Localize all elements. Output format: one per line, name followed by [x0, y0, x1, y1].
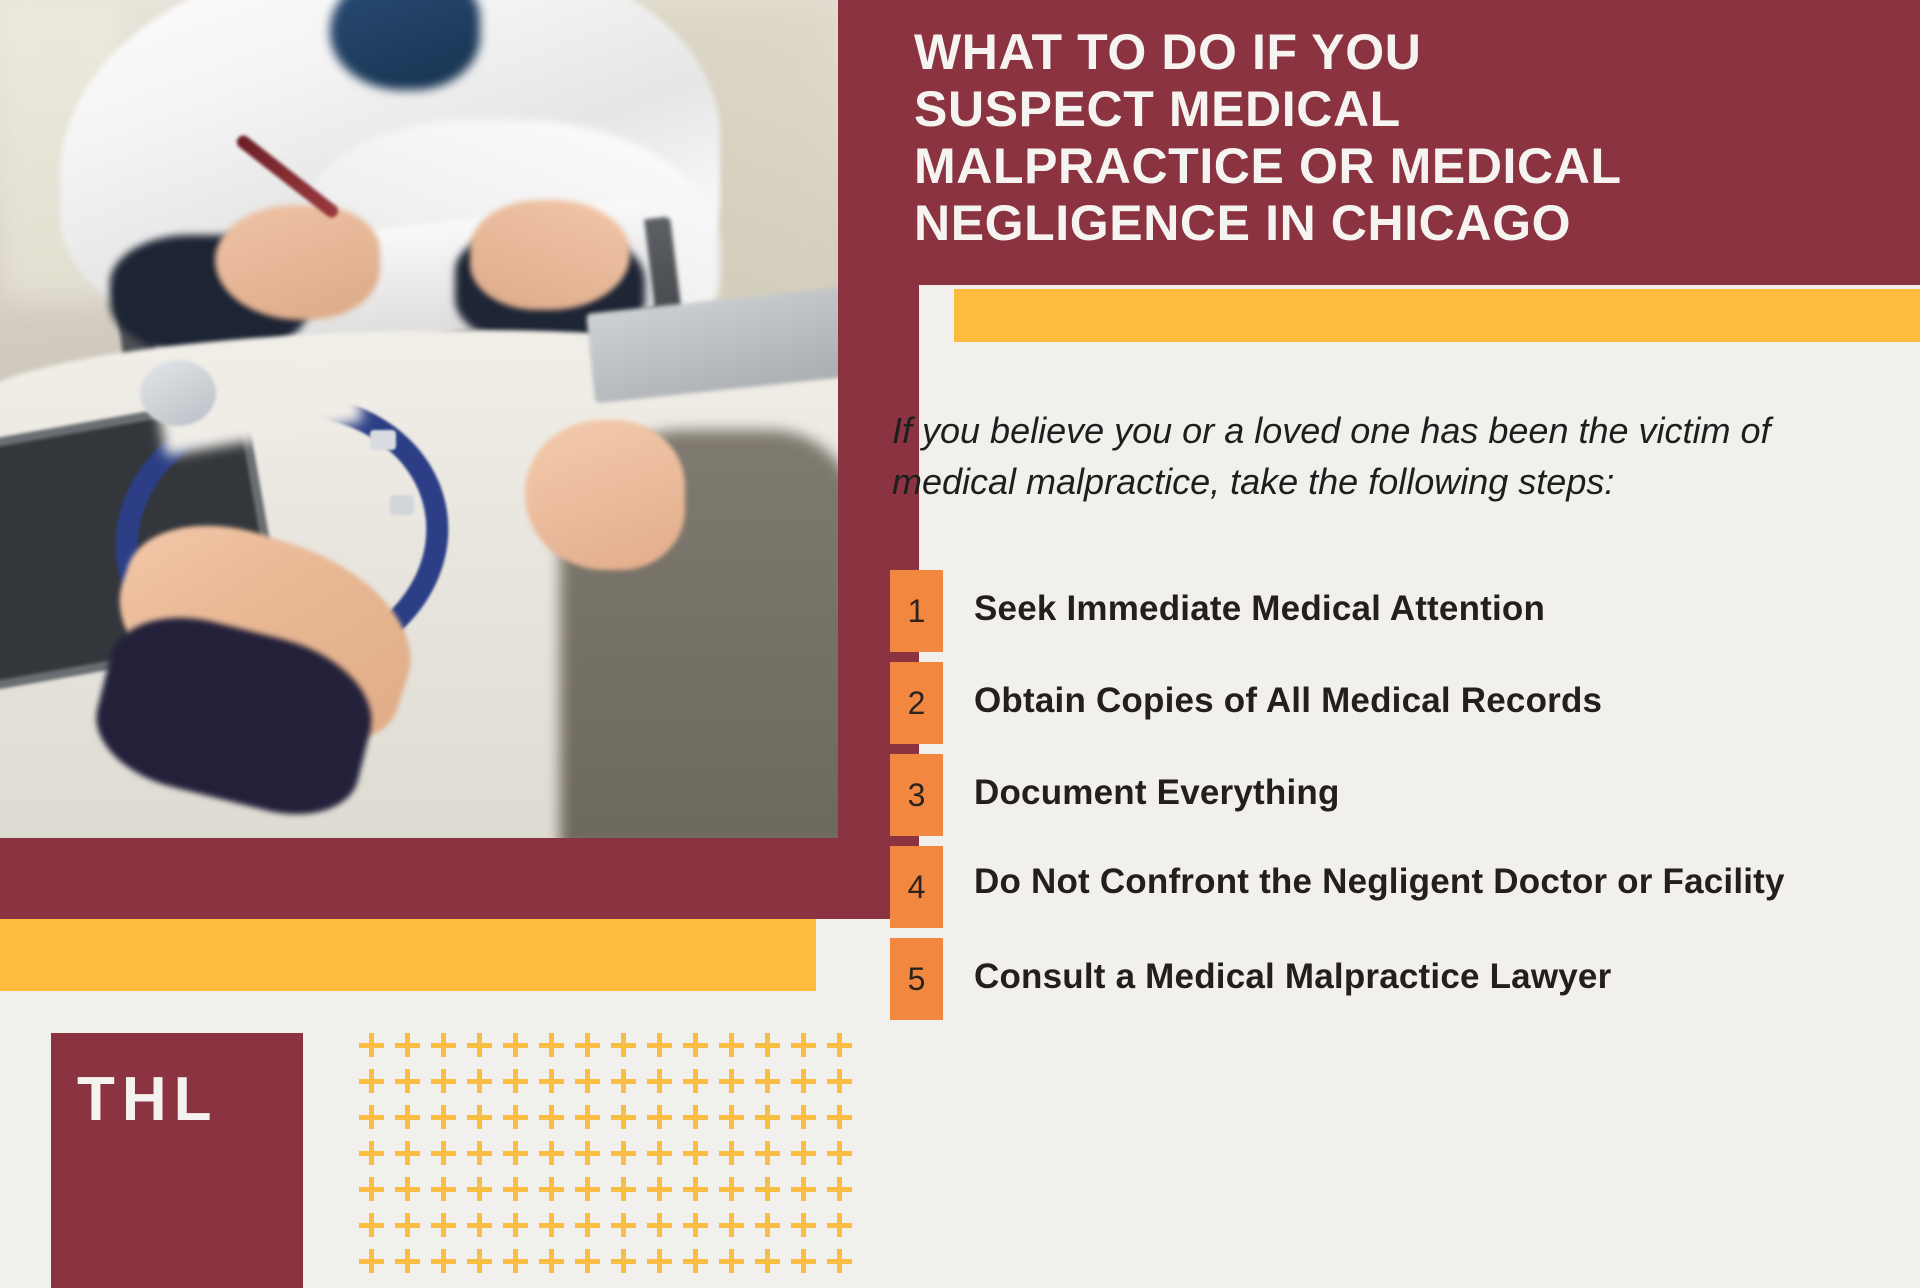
intro-paragraph: If you believe you or a loved one has be…	[892, 405, 1892, 507]
plus-icon	[826, 1103, 862, 1139]
plus-icon	[358, 1031, 394, 1067]
step-label: Document Everything	[943, 754, 1340, 832]
plus-icon	[646, 1139, 682, 1175]
plus-icon	[610, 1067, 646, 1103]
plus-icon	[538, 1139, 574, 1175]
photo-doctor-hand-right	[470, 200, 630, 310]
plus-icon	[790, 1103, 826, 1139]
plus-icon	[502, 1211, 538, 1247]
plus-icon	[718, 1247, 754, 1283]
plus-icon	[826, 1247, 862, 1283]
plus-icon	[646, 1247, 682, 1283]
plus-icon	[538, 1031, 574, 1067]
steps-list: 1 Seek Immediate Medical Attention 2 Obt…	[890, 570, 1900, 1030]
plus-icon	[538, 1175, 574, 1211]
plus-icon	[790, 1031, 826, 1067]
page-title-line: MALPRACTICE OR MEDICAL	[914, 138, 1890, 195]
photo-stethoscope-chestpiece	[140, 360, 216, 426]
plus-icon	[610, 1211, 646, 1247]
plus-icon	[646, 1103, 682, 1139]
plus-icon	[430, 1247, 466, 1283]
plus-icon	[430, 1211, 466, 1247]
plus-icon	[682, 1031, 718, 1067]
plus-icon	[646, 1067, 682, 1103]
plus-icon	[394, 1031, 430, 1067]
plus-icon	[610, 1247, 646, 1283]
photo-stethoscope-clip-upper	[370, 430, 396, 450]
photo-patient-hand	[525, 420, 685, 570]
plus-icon	[358, 1211, 394, 1247]
plus-icon	[358, 1247, 394, 1283]
plus-icon	[430, 1175, 466, 1211]
plus-icon	[610, 1139, 646, 1175]
plus-icon	[718, 1031, 754, 1067]
plus-icon	[754, 1103, 790, 1139]
plus-icon	[466, 1103, 502, 1139]
plus-icon	[358, 1067, 394, 1103]
plus-icon	[826, 1175, 862, 1211]
plus-icon	[754, 1175, 790, 1211]
plus-icon	[574, 1067, 610, 1103]
plus-icon	[394, 1067, 430, 1103]
plus-icon	[790, 1067, 826, 1103]
plus-icon	[682, 1103, 718, 1139]
plus-icon	[574, 1175, 610, 1211]
step-number-badge: 4	[890, 846, 943, 928]
thl-logo: THL	[51, 1033, 303, 1288]
plus-icon	[394, 1103, 430, 1139]
plus-icon	[466, 1031, 502, 1067]
page-title-line: SUSPECT MEDICAL	[914, 81, 1890, 138]
plus-icon	[430, 1031, 466, 1067]
plus-icon	[826, 1139, 862, 1175]
list-item: 2 Obtain Copies of All Medical Records	[890, 662, 1900, 744]
plus-pattern	[358, 1031, 862, 1283]
plus-icon	[754, 1067, 790, 1103]
list-item: 4 Do Not Confront the Negligent Doctor o…	[890, 846, 1900, 928]
plus-icon	[790, 1175, 826, 1211]
plus-icon	[682, 1211, 718, 1247]
plus-icon	[538, 1211, 574, 1247]
page-title-line: NEGLIGENCE IN CHICAGO	[914, 195, 1890, 252]
plus-icon	[682, 1139, 718, 1175]
plus-icon	[682, 1067, 718, 1103]
step-label: Seek Immediate Medical Attention	[943, 570, 1545, 648]
plus-icon	[394, 1211, 430, 1247]
plus-icon	[358, 1139, 394, 1175]
plus-icon	[574, 1211, 610, 1247]
plus-icon	[610, 1031, 646, 1067]
plus-icon	[466, 1247, 502, 1283]
plus-icon	[430, 1067, 466, 1103]
plus-icon	[826, 1031, 862, 1067]
plus-icon	[574, 1103, 610, 1139]
plus-icon	[394, 1247, 430, 1283]
plus-icon	[754, 1247, 790, 1283]
plus-icon	[574, 1031, 610, 1067]
plus-icon	[754, 1211, 790, 1247]
plus-icon	[610, 1175, 646, 1211]
plus-icon	[502, 1067, 538, 1103]
plus-icon	[502, 1139, 538, 1175]
plus-icon	[754, 1139, 790, 1175]
thl-logo-text: THL	[51, 1033, 303, 1131]
plus-icon	[502, 1175, 538, 1211]
plus-icon	[718, 1067, 754, 1103]
plus-icon	[502, 1247, 538, 1283]
photo-stethoscope-clip-lower	[390, 495, 414, 515]
plus-icon	[358, 1175, 394, 1211]
photo-doctor-hand-left	[215, 205, 380, 320]
plus-icon	[466, 1139, 502, 1175]
plus-icon	[646, 1031, 682, 1067]
plus-icon	[394, 1139, 430, 1175]
plus-icon	[646, 1175, 682, 1211]
doctor-consultation-photo	[0, 0, 838, 838]
plus-icon	[538, 1103, 574, 1139]
plus-icon	[718, 1175, 754, 1211]
step-number-badge: 3	[890, 754, 943, 836]
plus-icon	[682, 1175, 718, 1211]
plus-icon	[826, 1211, 862, 1247]
plus-icon	[466, 1175, 502, 1211]
plus-icon	[430, 1139, 466, 1175]
list-item: 1 Seek Immediate Medical Attention	[890, 570, 1900, 652]
plus-icon	[718, 1211, 754, 1247]
list-item: 3 Document Everything	[890, 754, 1900, 836]
plus-icon	[394, 1175, 430, 1211]
step-label: Do Not Confront the Negligent Doctor or …	[943, 846, 1785, 909]
plus-icon	[646, 1211, 682, 1247]
plus-icon	[826, 1067, 862, 1103]
plus-icon	[466, 1211, 502, 1247]
plus-icon	[718, 1103, 754, 1139]
list-item: 5 Consult a Medical Malpractice Lawyer	[890, 938, 1900, 1020]
step-label: Consult a Medical Malpractice Lawyer	[943, 938, 1611, 1016]
plus-icon	[466, 1067, 502, 1103]
plus-icon	[502, 1103, 538, 1139]
plus-icon	[718, 1139, 754, 1175]
plus-icon	[574, 1247, 610, 1283]
step-label: Obtain Copies of All Medical Records	[943, 662, 1602, 740]
plus-icon	[538, 1247, 574, 1283]
page-title-line: WHAT TO DO IF YOU	[914, 24, 1890, 81]
plus-icon	[682, 1247, 718, 1283]
step-number-badge: 5	[890, 938, 943, 1020]
plus-icon	[754, 1031, 790, 1067]
plus-icon	[574, 1139, 610, 1175]
plus-icon	[790, 1139, 826, 1175]
plus-icon	[790, 1247, 826, 1283]
plus-icon	[538, 1067, 574, 1103]
plus-icon	[502, 1031, 538, 1067]
plus-icon	[610, 1103, 646, 1139]
headline-underline-accent	[954, 289, 1920, 342]
step-number-badge: 2	[890, 662, 943, 744]
plus-icon	[430, 1103, 466, 1139]
plus-icon	[358, 1103, 394, 1139]
headline-block: WHAT TO DO IF YOU SUSPECT MEDICAL MALPRA…	[890, 0, 1920, 285]
infographic-canvas: THL WHAT TO DO IF YOU SUSPECT MEDICAL MA…	[0, 0, 1920, 1080]
page-title: WHAT TO DO IF YOU SUSPECT MEDICAL MALPRA…	[914, 24, 1890, 252]
plus-icon	[790, 1211, 826, 1247]
step-number-badge: 1	[890, 570, 943, 652]
